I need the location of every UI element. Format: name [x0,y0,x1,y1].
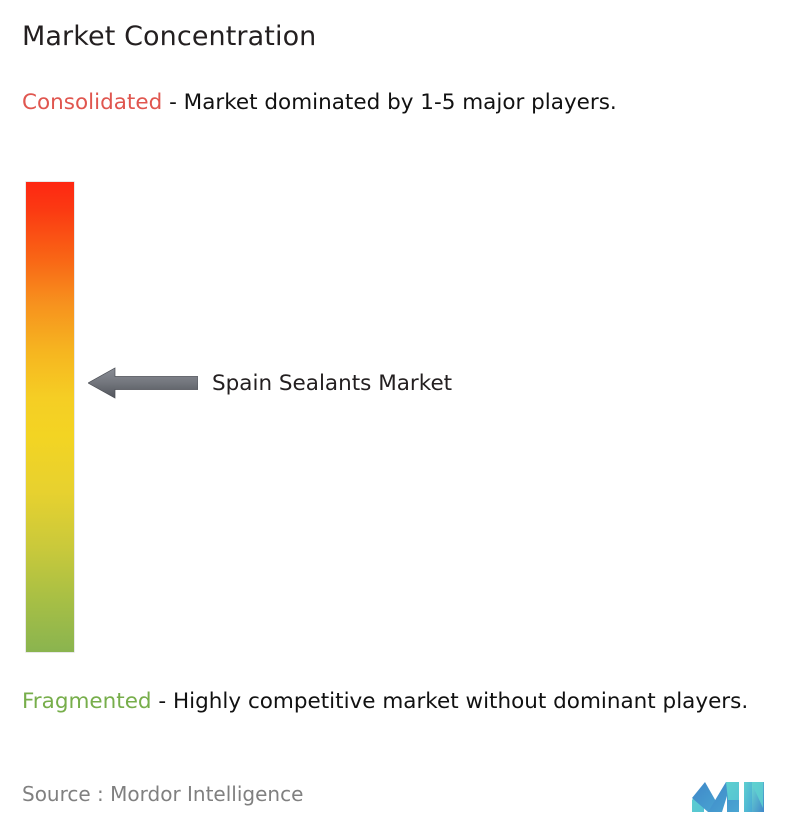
legend-fragmented-description: - Highly competitive market without domi… [158,689,748,714]
legend-consolidated-description: - Market dominated by 1-5 major players. [169,90,617,115]
legend-fragmented-term: Fragmented [22,689,152,714]
market-position-annotation: Spain Sealants Market [88,360,558,406]
annotation-label: Spain Sealants Market [212,371,452,396]
page-title: Market Concentration [22,20,316,54]
market-concentration-gradient-bar [26,182,74,652]
legend-consolidated-term: Consolidated [22,90,162,115]
mordor-intelligence-logo [692,770,772,816]
legend-consolidated: Consolidated - Market dominated by 1-5 m… [22,87,784,118]
source-note: Source : Mordor Intelligence [22,782,303,806]
left-arrow-icon [88,366,198,400]
legend-fragmented: Fragmented - Highly competitive market w… [22,686,784,717]
